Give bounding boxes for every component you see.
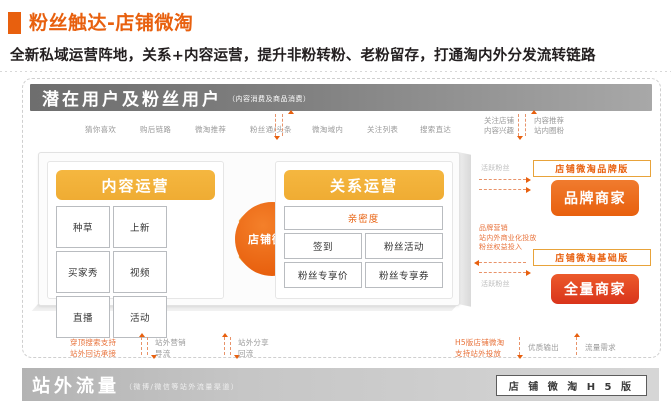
relation-highlight-cell[interactable]: 亲密度 xyxy=(284,206,443,230)
top-right-label-1: 内容推荐 站内圈粉 xyxy=(534,116,564,136)
external-traffic-band: 站外流量 （微博/微信等站外流量渠道） 店 铺 微 淘 H 5 版 xyxy=(22,368,659,401)
connector-top-line-2 xyxy=(479,189,526,190)
connector-mid-labels: 品牌营销 站内外商业化投放 粉丝权益投入 xyxy=(479,224,537,253)
page-title-row: 粉丝触达-店铺微淘 xyxy=(8,12,193,34)
connector-bottom-label: 活跃粉丝 xyxy=(481,280,510,290)
brand-version-tag[interactable]: 店铺微淘品牌版 xyxy=(533,160,651,177)
bottom-label-mid-1-line2: 导流 xyxy=(155,349,186,360)
connector-mid-line-1: 站内外商业化投放 xyxy=(479,234,537,244)
top-right-label-0-line1: 关注店铺 xyxy=(484,116,514,126)
bottom-band-note: （微博/微信等站外流量渠道） xyxy=(125,382,239,392)
bottom-label-right-orange-line1: H5版店铺微淘 xyxy=(455,338,504,349)
channel-arrow-mid xyxy=(273,114,287,140)
bottom-label-right-2: 流量需求 xyxy=(585,343,616,354)
brand-merchant-box[interactable]: 品牌商家 xyxy=(551,180,639,216)
content-cell-0[interactable]: 种草 xyxy=(56,206,110,248)
bottom-label-right-2-line1: 流量需求 xyxy=(585,343,616,354)
channel-label-5: 关注列表 xyxy=(367,124,398,135)
page-subtitle: 全新私域运营阵地，关系+内容运营，提升非粉转粉、老粉留存，打通淘内外分发流转链路 xyxy=(10,44,596,65)
relation-operations-header: 关系运营 xyxy=(284,170,444,200)
page-title: 粉丝触达-店铺微淘 xyxy=(29,12,193,34)
bottom-label-right-1: 优质输出 xyxy=(528,343,559,354)
bottom-arrow-4 xyxy=(572,337,586,359)
relation-cell-0[interactable]: 签到 xyxy=(284,233,362,259)
connector-top-label: 活跃粉丝 xyxy=(481,164,510,174)
top-band-title: 潜在用户及粉丝用户 xyxy=(42,85,222,110)
bottom-band-title: 站外流量 xyxy=(32,372,120,398)
top-audience-band: 潜在用户及粉丝用户 （内容消费及商品消费） xyxy=(30,84,652,111)
bottom-label-left-orange-line1: 穿顶搜索支持 xyxy=(70,338,116,349)
top-right-label-0: 关注店铺 内容兴趣 xyxy=(484,116,514,136)
bottom-arrow-2 xyxy=(220,337,234,359)
channel-label-4: 微淘域内 xyxy=(312,124,343,135)
channel-label-2: 微淘推荐 xyxy=(195,124,226,135)
relation-operations-panel[interactable]: 关系运营 亲密度 签到 粉丝活动 粉丝专享价 粉丝专享券 xyxy=(275,161,453,299)
connector-mid-line-0: 品牌营销 xyxy=(479,224,537,234)
content-cell-3[interactable]: 视频 xyxy=(113,251,167,293)
bottom-arrow-1 xyxy=(137,337,151,359)
bottom-label-mid-1: 站外营销 导流 xyxy=(155,338,186,359)
content-operations-panel[interactable]: 内容运营 种草 上新 买家秀 视频 直播 活动 xyxy=(47,161,224,299)
bottom-label-mid-2-line2: 回流 xyxy=(238,349,269,360)
bottom-label-mid-1-line1: 站外营销 xyxy=(155,338,186,349)
bottom-label-right-orange-line2: 支持站外投放 xyxy=(455,349,504,360)
header-divider xyxy=(0,71,671,72)
connector-bottom-line-2 xyxy=(479,272,526,273)
connector-bottom-line xyxy=(479,262,526,263)
relation-cell-1[interactable]: 粉丝活动 xyxy=(365,233,443,259)
relation-cell-3[interactable]: 粉丝专享券 xyxy=(365,262,443,288)
h5-version-box[interactable]: 店 铺 微 淘 H 5 版 xyxy=(496,375,647,396)
top-right-label-1-line2: 站内圈粉 xyxy=(534,126,564,136)
top-right-label-1-line1: 内容推荐 xyxy=(534,116,564,126)
content-operations-grid: 种草 上新 买家秀 视频 直播 活动 xyxy=(56,206,215,338)
channel-label-1: 购后链路 xyxy=(140,124,171,135)
content-cell-4[interactable]: 直播 xyxy=(56,296,110,338)
channel-arrow-right xyxy=(516,114,530,140)
channel-label-6: 搜索直达 xyxy=(420,124,451,135)
card-front-face: 内容运营 种草 上新 买家秀 视频 直播 活动 xyxy=(38,152,460,306)
title-accent-marker xyxy=(8,12,21,34)
bottom-label-left-orange-line2: 站外回访承接 xyxy=(70,349,116,360)
bottom-label-mid-2-line1: 站外分享 xyxy=(238,338,269,349)
basic-version-tag[interactable]: 店铺微淘基础版 xyxy=(533,249,651,266)
operations-card: 内容运营 种草 上新 买家秀 视频 直播 活动 xyxy=(38,152,471,309)
content-cell-1[interactable]: 上新 xyxy=(113,206,167,248)
slide-root: 粉丝触达-店铺微淘 全新私域运营阵地，关系+内容运营，提升非粉转粉、老粉留存，打… xyxy=(0,0,671,401)
content-operations-header: 内容运营 xyxy=(56,170,215,200)
relation-cell-2[interactable]: 粉丝专享价 xyxy=(284,262,362,288)
bottom-label-left-orange: 穿顶搜索支持 站外回访承接 xyxy=(70,338,116,359)
connector-mid-line-2: 粉丝权益投入 xyxy=(479,243,537,253)
top-band-note: （内容消费及商品消费） xyxy=(228,94,311,104)
relation-operations-grid: 亲密度 签到 粉丝活动 粉丝专享价 粉丝专享券 xyxy=(284,206,445,288)
top-right-label-0-line2: 内容兴趣 xyxy=(484,126,514,136)
connector-top-line xyxy=(479,179,526,180)
channel-label-0: 猜你喜欢 xyxy=(85,124,116,135)
content-cell-5[interactable]: 活动 xyxy=(113,296,167,338)
bottom-arrow-3 xyxy=(515,337,529,359)
bottom-label-mid-2: 站外分享 回流 xyxy=(238,338,269,359)
relation-operations-title: 关系运营 xyxy=(330,175,398,196)
content-operations-title: 内容运营 xyxy=(101,175,169,196)
bottom-label-right-orange: H5版店铺微淘 支持站外投放 xyxy=(455,338,504,359)
header: 粉丝触达-店铺微淘 全新私域运营阵地，关系+内容运营，提升非粉转粉、老粉留存，打… xyxy=(0,0,671,72)
bottom-label-right-1-line1: 优质输出 xyxy=(528,343,559,354)
all-merchant-box[interactable]: 全量商家 xyxy=(551,274,639,304)
content-cell-2[interactable]: 买家秀 xyxy=(56,251,110,293)
